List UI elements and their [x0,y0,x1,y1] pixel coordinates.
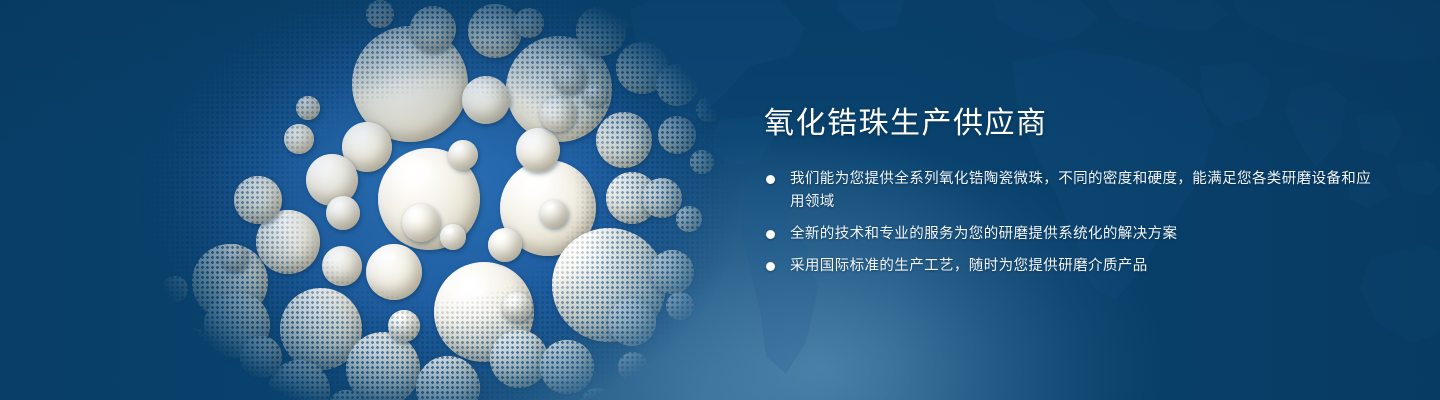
bullet-text: 全新的技术和专业的服务为您的研磨提供系统化的解决方案 [790,226,1177,242]
bullet-dot-icon [766,230,775,239]
bullet-dot-icon [766,175,775,184]
bullet-item: 全新的技术和专业的服务为您的研磨提供系统化的解决方案 [764,223,1384,246]
bullet-item: 采用国际标准的生产工艺，随时为您提供研磨介质产品 [764,255,1384,278]
banner-headline: 氧化锆珠生产供应商 [764,104,1384,144]
hero-banner: 氧化锆珠生产供应商 我们能为您提供全系列氧化锆陶瓷微珠，不同的密度和硬度，能满足… [0,0,1440,400]
bullet-text: 采用国际标准的生产工艺，随时为您提供研磨介质产品 [790,258,1148,274]
banner-bullet-list: 我们能为您提供全系列氧化锆陶瓷微珠，不同的密度和硬度，能满足您各类研磨设备和应用… [764,168,1384,278]
bullet-text: 我们能为您提供全系列氧化锆陶瓷微珠，不同的密度和硬度，能满足您各类研磨设备和应用… [790,171,1371,210]
bullet-dot-icon [766,262,775,271]
bullet-item: 我们能为您提供全系列氧化锆陶瓷微珠，不同的密度和硬度，能满足您各类研磨设备和应用… [764,168,1384,214]
banner-content: 氧化锆珠生产供应商 我们能为您提供全系列氧化锆陶瓷微珠，不同的密度和硬度，能满足… [764,104,1384,278]
